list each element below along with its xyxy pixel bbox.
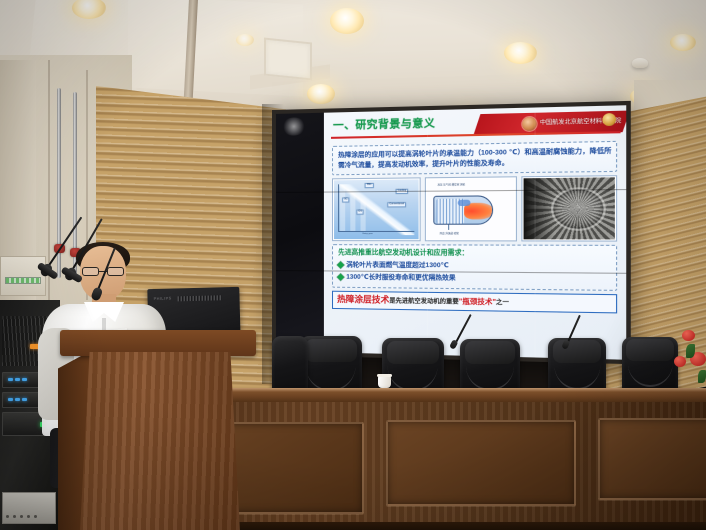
- conclusion-mid: 是先进航空发动机的重要: [389, 299, 458, 306]
- engine-label-bottom: 风扇 外涵道 喷管: [440, 231, 459, 235]
- rack-led-row-2: [8, 398, 27, 401]
- chart-label-1: TBC: [365, 183, 374, 188]
- bullet-item: 1300℃长时服役寿命和更优隔热效果: [338, 274, 611, 286]
- lectern-grain: [80, 352, 240, 530]
- chair-headrest: [465, 341, 515, 363]
- slide-figure-row: TBC SC DS Conventional Cooling Entry yea…: [332, 175, 617, 241]
- lectern: [62, 330, 252, 530]
- figure-trend-chart: TBC SC DS Conventional Cooling Entry yea…: [332, 177, 421, 241]
- dais-panel-2: [386, 420, 576, 506]
- smoke-detector-icon: [632, 58, 648, 68]
- lectern-front: [80, 352, 240, 530]
- downlight-2: [330, 8, 364, 34]
- slide-body-text: 热障涂层的应用可以提高涡轮叶片的承温能力（100-300 ℃）和高温耐腐蚀能力，…: [338, 146, 611, 171]
- bullet-text-2: 1300℃长时服役寿命和更优隔热效果: [346, 274, 455, 284]
- diamond-bullet-icon: [337, 274, 344, 281]
- slide-title: 一、研究背景与意义: [333, 115, 435, 133]
- conclusion-line: 热障涂层技术是先进航空发动机的重要"瓶颈技术"之一: [337, 294, 611, 310]
- flower-leaf: [698, 370, 706, 383]
- cup-lid: [377, 374, 392, 377]
- dais-panel-3: [598, 418, 706, 500]
- chart-xlabel: Entry year: [363, 233, 373, 235]
- chair-headrest: [387, 341, 439, 364]
- flower-leaf: [686, 344, 695, 358]
- turbine-photo: [524, 177, 615, 239]
- video-wall-dark-panels: [276, 113, 324, 353]
- amplifier-knobs[interactable]: [6, 515, 37, 518]
- chair-headrest: [626, 339, 673, 361]
- downlight-9: [236, 34, 254, 46]
- flower-petal: [682, 330, 695, 341]
- conclusion-tail: 之一: [496, 300, 509, 306]
- chart-label-4: Conventional: [387, 202, 406, 207]
- slide-body-box: 热障涂层的应用可以提高涡轮叶片的承温能力（100-300 ℃）和高温耐腐蚀能力，…: [332, 141, 617, 176]
- engine-body: [433, 195, 493, 224]
- downlight-3: [504, 42, 537, 64]
- figure-turbine-photo: [521, 175, 617, 241]
- downlight-8: [670, 34, 696, 51]
- chair-headrest: [305, 339, 357, 363]
- slide-header: 一、研究背景与意义 中国航发北京航空材料研究院: [329, 110, 621, 143]
- bullets-heading: 先进高推重比航空发动机设计和应用需求：: [338, 248, 611, 259]
- conclusion-lead: 热障涂层技术: [337, 294, 389, 305]
- ceiling-access-panel: [264, 37, 312, 80]
- chart-label-3: DS: [356, 210, 364, 215]
- photo-shadow: [524, 178, 555, 239]
- engine-diagram: 高压 压气机 燃烧室 涡轮 风扇 外涵道 喷管: [427, 179, 515, 240]
- slide-conclusion-box: 热障涂层技术是先进航空发动机的重要"瓶颈技术"之一: [332, 291, 617, 314]
- trend-chart-plot: TBC SC DS Conventional Cooling Entry yea…: [334, 180, 419, 240]
- panel-seam-v3: [535, 107, 536, 357]
- paper-cup: [378, 376, 391, 388]
- chart-label-2: SC: [342, 198, 349, 203]
- presentation-room-photo: 一、研究背景与意义 中国航发北京航空材料研究院 热障涂层的应用可以提高涡轮叶片的…: [0, 0, 706, 530]
- diamond-bullet-icon: [337, 261, 344, 268]
- video-wall-screen[interactable]: 一、研究背景与意义 中国航发北京航空材料研究院 热障涂层的应用可以提高涡轮叶片的…: [276, 105, 626, 359]
- monitor-vent: [177, 295, 221, 301]
- presentation-slide: 一、研究背景与意义 中国航发北京航空材料研究院 热障涂层的应用可以提高涡轮叶片的…: [324, 105, 626, 359]
- conclusion-quoted: "瓶颈技术": [459, 298, 496, 306]
- flower-petal: [674, 356, 686, 367]
- rack-led-row-1: [8, 378, 27, 381]
- engine-cooling-flow: [458, 200, 471, 206]
- flower-arrangement: [668, 330, 706, 392]
- rack-amplifier: [2, 492, 56, 524]
- downlight-4: [307, 84, 335, 104]
- chair-headrest: [553, 340, 602, 362]
- engine-label-top: 高压 压气机 燃烧室 涡轮: [438, 182, 466, 186]
- panel-seam-v1: [324, 113, 325, 353]
- turbine-ring: [551, 187, 606, 230]
- slide-bullets-box: 先进高推重比航空发动机设计和应用需求： 涡轮叶片表面燃气温度超过1300℃ 13…: [332, 244, 617, 291]
- panel-seam-v2: [427, 110, 428, 355]
- video-wall[interactable]: 一、研究背景与意义 中国航发北京航空材料研究院 热障涂层的应用可以提高涡轮叶片的…: [272, 101, 631, 364]
- figure-engine-cutaway: 高压 压气机 燃烧室 涡轮 风扇 外涵道 喷管: [425, 176, 517, 241]
